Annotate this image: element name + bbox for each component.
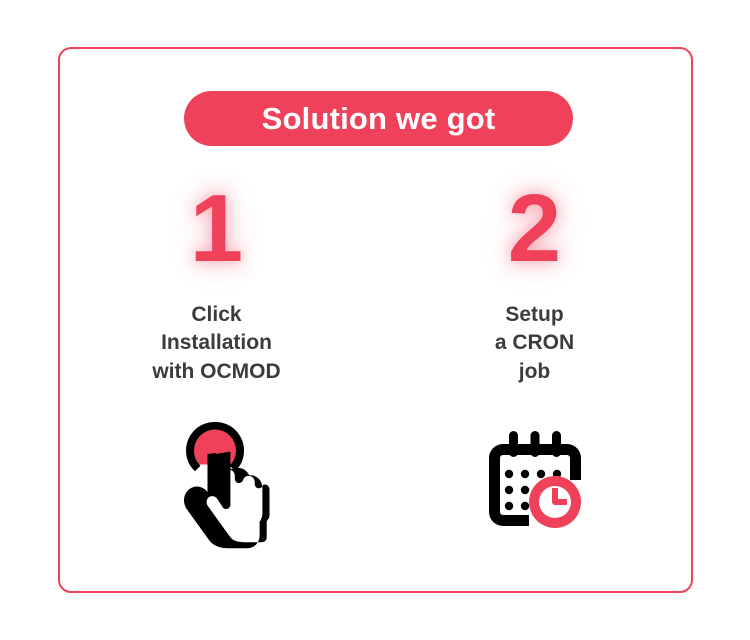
step-label-2: Setup a CRON job xyxy=(495,301,574,386)
calendar-clock-icon xyxy=(479,422,591,534)
step-label-1-line-3: with OCMOD xyxy=(152,358,280,386)
step-icon-wrap-1 xyxy=(162,412,272,552)
step-label-1-line-2: Installation xyxy=(152,329,280,357)
solution-card: Solution we got 1 Click Installation wit… xyxy=(58,47,693,593)
step-item-1: 1 Click Installation with OCMOD xyxy=(87,179,347,552)
step-label-2-line-1: Setup xyxy=(495,301,574,329)
step-icon-wrap-2 xyxy=(479,412,591,552)
steps-row: 1 Click Installation with OCMOD xyxy=(60,179,691,552)
header-title: Solution we got xyxy=(262,103,496,134)
step-item-2: 2 Setup a CRON job xyxy=(405,179,665,552)
step-label-1-line-1: Click xyxy=(152,301,280,329)
step-label-1: Click Installation with OCMOD xyxy=(152,301,280,386)
diagram-canvas: Solution we got 1 Click Installation wit… xyxy=(0,0,750,640)
header-pill: Solution we got xyxy=(184,91,573,146)
hand-tap-icon xyxy=(168,412,272,554)
step-number-1: 1 xyxy=(190,179,243,279)
step-label-2-line-2: a CRON xyxy=(495,329,574,357)
step-number-2: 2 xyxy=(508,179,561,279)
step-label-2-line-3: job xyxy=(495,358,574,386)
